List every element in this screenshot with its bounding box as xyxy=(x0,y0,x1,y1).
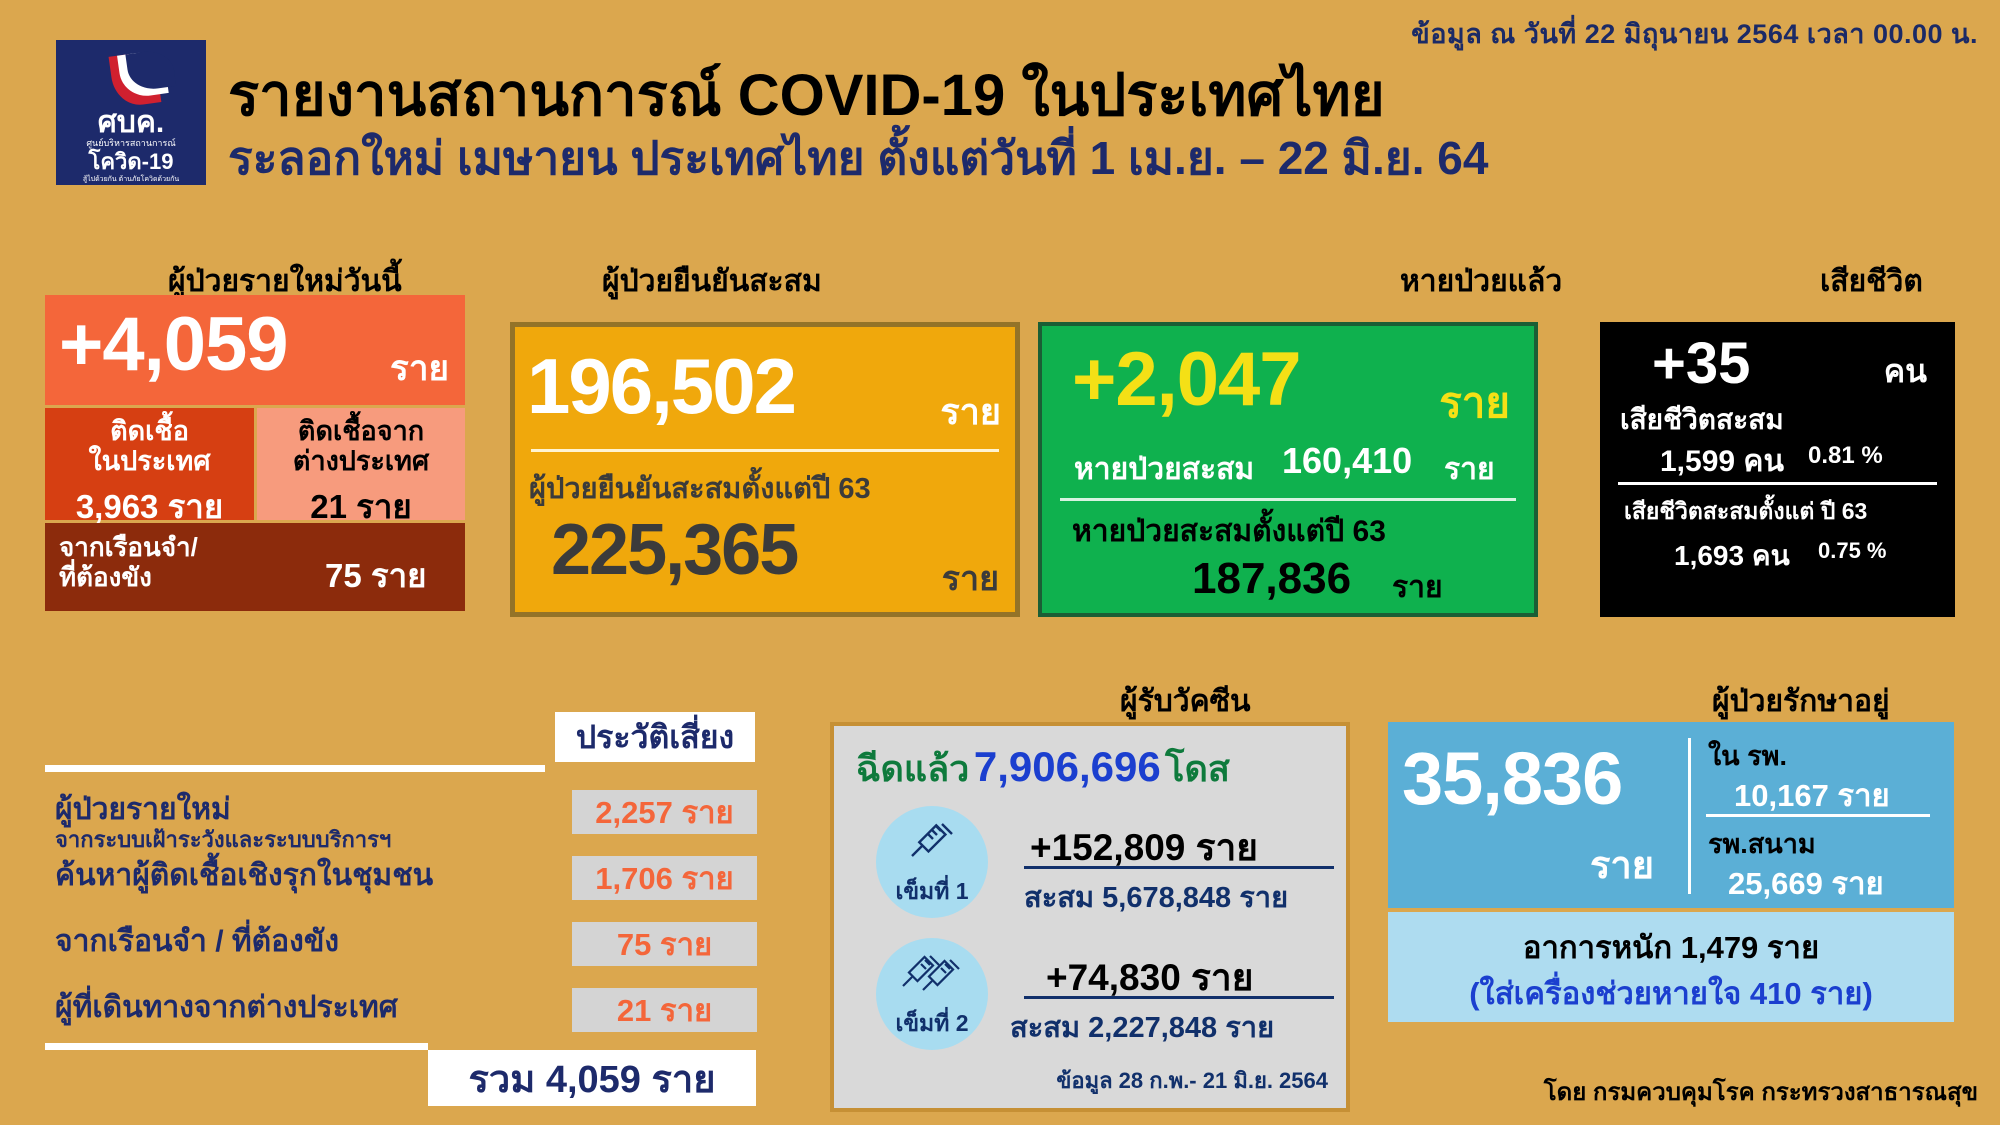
deaths-cum-label: เสียชีวิตสะสม xyxy=(1620,398,1784,442)
risk-row-2-value: 1,706 ราย xyxy=(595,853,733,903)
double-syringe-icon xyxy=(899,950,965,996)
risk-row-2-label: ค้นหาผู้ติดเชื้อเชิงรุกในชุมชน xyxy=(55,852,433,899)
new-cases-value: +4,059 xyxy=(59,307,288,383)
ventilator-cases-value: (ใส่เครื่องช่วยหายใจ 410 ราย) xyxy=(1388,968,1954,1018)
deaths-since63-value: 1,693 คน xyxy=(1674,534,1790,578)
dose2-cumulative: สะสม 2,227,848 ราย xyxy=(1010,1004,1274,1050)
recovered-cum-unit: ราย xyxy=(1444,446,1495,493)
prison-cases-cell: จากเรือนจำ/ ที่ต้องขัง 75 ราย xyxy=(45,523,465,611)
risk-row-2-value-box: 1,706 ราย xyxy=(572,856,757,900)
logo-tagline: สู้ไปด้วยกัน ต้านภัยโควิดด้วยกัน xyxy=(83,176,179,184)
severe-cases-card: อาการหนัก 1,479 ราย (ใส่เครื่องช่วยหายใจ… xyxy=(1388,912,1954,1022)
dose2-badge: เข็มที่ 2 xyxy=(876,938,988,1050)
deaths-cum-value: 1,599 คน xyxy=(1660,438,1784,485)
vaccine-headline-prefix: ฉีดแล้ว xyxy=(856,748,969,789)
in-hospital-value: 10,167 ราย xyxy=(1734,770,1890,820)
new-cases-unit: ราย xyxy=(390,341,449,396)
caption-deaths: เสียชีวิต xyxy=(1820,258,1923,305)
caption-vaccine: ผู้รับวัคซีน xyxy=(1120,678,1251,725)
cumulative-unit: ราย xyxy=(940,383,1001,440)
page-subtitle: ระลอกใหม่ เมษายน ประเทศไทย ตั้งแต่วันที่… xyxy=(228,122,1488,195)
prison-label-line2: ที่ต้องขัง xyxy=(59,562,152,592)
deaths-card: +35 คน เสียชีวิตสะสม 1,599 คน 0.81 % เสี… xyxy=(1600,322,1955,617)
imported-label-line1: ติดเชื้อจาก xyxy=(257,416,465,446)
dose2-rule xyxy=(1024,996,1334,999)
treating-unit: ราย xyxy=(1590,834,1654,895)
vaccine-card: ฉีดแล้ว 7,906,696 โดส เข็มที่ 1 +152,809… xyxy=(830,722,1350,1112)
severe-cases-value: อาการหนัก 1,479 ราย xyxy=(1388,922,1954,972)
syringe-icon xyxy=(904,818,960,864)
recovered-value: +2,047 xyxy=(1072,336,1301,423)
logo-abbrev: ศบค. xyxy=(98,108,165,138)
cumulative-card: 196,502 ราย ผู้ป่วยยืนยันสะสมตั้งแต่ปี 6… xyxy=(510,322,1020,617)
domestic-label-line1: ติดเชื้อ xyxy=(45,416,254,446)
recovered-since63-unit: ราย xyxy=(1392,564,1443,611)
risk-row-4-value-box: 21 ราย xyxy=(572,988,757,1032)
risk-row-3-label: จากเรือนจำ / ที่ต้องขัง xyxy=(55,918,339,965)
deaths-divider xyxy=(1618,482,1937,485)
sbc-logo: ศบค. ศูนย์บริหารสถานการณ์ โควิด-19 สู้ไป… xyxy=(56,40,206,185)
domestic-label-line2: ในประเทศ xyxy=(45,446,254,476)
treating-value: 35,836 xyxy=(1402,736,1622,821)
cumulative-since63-value: 225,365 xyxy=(551,509,797,591)
deaths-value: +35 xyxy=(1652,330,1750,397)
vaccine-headline-suffix: โดส xyxy=(1165,748,1230,789)
risk-history-bottom-rule xyxy=(45,1043,428,1050)
datestamp: ข้อมูล ณ วันที่ 22 มิถุนายน 2564 เวลา 00… xyxy=(1411,12,1978,55)
treating-card: 35,836 ราย ใน รพ. 10,167 ราย รพ.สนาม 25,… xyxy=(1388,722,1954,908)
cumulative-since63-label: ผู้ป่วยยืนยันสะสมตั้งแต่ปี 63 xyxy=(529,465,871,511)
treating-horizontal-rule xyxy=(1706,814,1930,817)
recovered-since63-value: 187,836 xyxy=(1192,554,1351,604)
prison-label-line1: จากเรือนจำ/ xyxy=(59,532,198,562)
risk-history-top-rule xyxy=(45,765,545,772)
vaccine-note: ข้อมูล 28 ก.พ.- 21 มิ.ย. 2564 xyxy=(1056,1063,1328,1098)
cumulative-divider xyxy=(531,449,999,452)
cumulative-since63-unit: ราย xyxy=(942,551,999,605)
recovered-unit: ราย xyxy=(1439,370,1510,436)
dose2-label: เข็มที่ 2 xyxy=(895,1006,968,1042)
risk-total-box: รวม 4,059 ราย xyxy=(428,1050,756,1106)
recovered-cum-value: 160,410 xyxy=(1282,440,1412,482)
recovered-card: +2,047 ราย หายป่วยสะสม 160,410 ราย หายป่… xyxy=(1038,322,1538,617)
infographic-root: ข้อมูล ณ วันที่ 22 มิถุนายน 2564 เวลา 00… xyxy=(0,0,2000,1125)
risk-row-3-value-box: 75 ราย xyxy=(572,922,757,966)
deaths-since63-percent: 0.75 % xyxy=(1818,538,1887,564)
prison-label: จากเรือนจำ/ ที่ต้องขัง xyxy=(59,533,198,593)
recovered-divider xyxy=(1060,498,1516,501)
dose1-cumulative: สะสม 5,678,848 ราย xyxy=(1024,874,1288,920)
risk-history-title: ประวัติเสี่ยง xyxy=(576,712,734,763)
dose1-label: เข็มที่ 1 xyxy=(895,874,968,910)
treating-vertical-rule xyxy=(1688,738,1691,894)
risk-row-1-value: 2,257 ราย xyxy=(595,787,733,837)
vaccine-headline-value: 7,906,696 xyxy=(974,743,1161,790)
risk-row-3-value: 75 ราย xyxy=(617,919,712,969)
risk-row-1-value-box: 2,257 ราย xyxy=(572,790,757,834)
thai-flag-swoosh-icon xyxy=(108,54,154,106)
new-cases-card: +4,059 ราย xyxy=(45,295,465,405)
deaths-cum-percent: 0.81 % xyxy=(1808,442,1883,470)
imported-cases-cell: ติดเชื้อจาก ต่างประเทศ 21 ราย xyxy=(257,408,465,520)
imported-label-line2: ต่างประเทศ xyxy=(257,446,465,476)
logo-subtitle: ศูนย์บริหารสถานการณ์ xyxy=(86,139,175,149)
risk-row-4-value: 21 ราย xyxy=(617,985,712,1035)
vaccine-headline: ฉีดแล้ว 7,906,696 โดส xyxy=(856,740,1230,797)
caption-recovered: หายป่วยแล้ว xyxy=(1400,258,1562,305)
deaths-since63-label: เสียชีวิตสะสมตั้งแต่ ปี 63 xyxy=(1624,494,1867,530)
risk-total-value: รวม 4,059 ราย xyxy=(468,1048,715,1109)
field-hospital-value: 25,669 ราย xyxy=(1728,858,1884,908)
risk-row-4-label: ผู้ที่เดินทางจากต่างประเทศ xyxy=(55,984,398,1031)
logo-covid: โควิด-19 xyxy=(89,151,174,173)
recovered-cum-label: หายป่วยสะสม xyxy=(1074,446,1254,493)
domestic-cases-cell: ติดเชื้อ ในประเทศ 3,963 ราย xyxy=(45,408,254,520)
cumulative-value: 196,502 xyxy=(527,341,795,432)
dose1-badge: เข็มที่ 1 xyxy=(876,806,988,918)
dose1-rule xyxy=(1024,866,1334,869)
prison-value: 75 ราย xyxy=(325,549,426,602)
caption-treating: ผู้ป่วยรักษาอยู่ xyxy=(1712,678,1890,725)
recovered-since63-label: หายป่วยสะสมตั้งแต่ปี 63 xyxy=(1072,508,1386,555)
caption-cumulative: ผู้ป่วยยืนยันสะสม xyxy=(602,258,822,305)
credit-line: โดย กรมควบคุมโรค กระทรวงสาธารณสุข xyxy=(1544,1072,1978,1111)
risk-history-title-box: ประวัติเสี่ยง xyxy=(555,712,755,762)
deaths-unit: คน xyxy=(1884,346,1927,397)
